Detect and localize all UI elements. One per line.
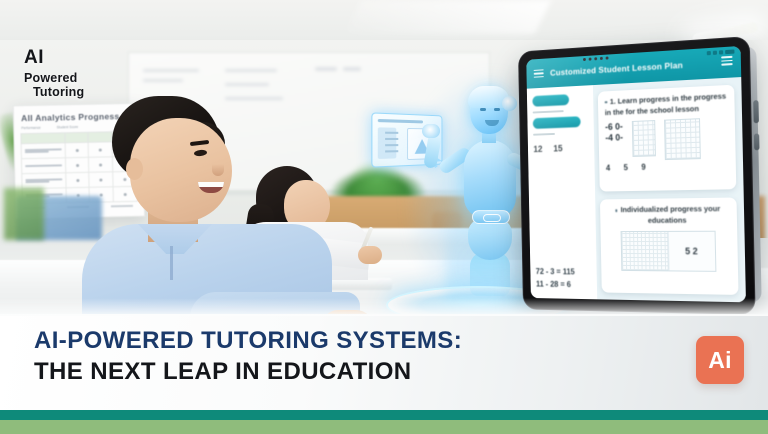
lesson-card-1-digits: 4 5 9 xyxy=(606,160,729,172)
bullet-icon xyxy=(605,101,607,104)
poster-green-shape xyxy=(4,188,44,240)
brand-line-1: AI xyxy=(24,48,84,67)
hamburger-icon[interactable] xyxy=(534,69,544,78)
digit-2: 5 xyxy=(623,163,627,172)
sidebar-label-line-small xyxy=(533,133,555,136)
sidebar-number-1: 12 xyxy=(533,144,542,154)
ai-logo-badge: Ai xyxy=(696,336,744,384)
tablet-device[interactable]: Customized Student Lesson Plan 12 15 xyxy=(518,36,756,315)
poster-canvas: AII Analytics Progness Performance Stude… xyxy=(0,0,768,434)
equation-1: 72 - 3 = 115 xyxy=(536,266,591,279)
mini-grid-small xyxy=(631,120,655,157)
sidebar-equations: 72 - 3 = 115 11 - 28 = 6 xyxy=(536,266,592,291)
app-title: Customized Student Lesson Plan xyxy=(550,60,683,78)
lesson-content: 1. Learn progress in the progress in the… xyxy=(593,77,746,302)
battery-icon xyxy=(725,49,734,54)
headline-line-2: THE NEXT LEAP IN EDUCATION xyxy=(34,359,462,386)
banner-top-fade xyxy=(0,298,768,316)
footer-bar-teal xyxy=(0,410,768,420)
lesson-card-1-math: -6 0- -4 0- xyxy=(605,117,728,162)
sidebar-label-line xyxy=(533,110,564,113)
math-line-2: -4 0- xyxy=(605,133,623,145)
lesson-card-2[interactable]: Individualized progress your educations … xyxy=(600,198,739,295)
ai-logo-text: Ai xyxy=(708,349,732,372)
poster-sub-left: Performance xyxy=(21,126,41,130)
app-body: 12 15 72 - 3 = 115 11 - 28 = 6 1. Learn … xyxy=(527,77,746,302)
brand-lockup: AI Powered Tutoring xyxy=(24,48,84,100)
headline-line-1: AI-POWERED TUTORING SYSTEMS: xyxy=(34,328,462,355)
brand-line-2: Powered xyxy=(24,71,84,85)
page-title: AI-POWERED TUTORING SYSTEMS: THE NEXT LE… xyxy=(34,328,462,386)
sidebar-number-2: 15 xyxy=(553,143,562,153)
mini-grid-large xyxy=(664,118,701,160)
math-column: -6 0- -4 0- xyxy=(605,121,623,144)
volume-up-button[interactable] xyxy=(753,100,759,123)
lesson-card-1-heading: 1. Learn progress in the progress in the… xyxy=(605,91,728,118)
digit-1: 4 xyxy=(606,164,610,173)
tablet-screen[interactable]: Customized Student Lesson Plan 12 15 xyxy=(526,46,746,302)
equation-2: 11 - 28 = 6 xyxy=(536,278,591,291)
download-pill-button[interactable] xyxy=(532,94,569,106)
assessment-pill-button[interactable] xyxy=(533,116,581,129)
brand-line-3: Tutoring xyxy=(33,85,84,99)
sidebar-numbers: 12 15 xyxy=(533,142,588,154)
ceiling-highlight xyxy=(345,0,552,34)
progress-grid-value: 5 2 xyxy=(667,232,716,271)
lesson-card-2-heading: Individualized progress your educations xyxy=(607,204,730,226)
hologram-belt xyxy=(472,210,510,224)
math-line-1: -6 0- xyxy=(605,121,623,133)
hologram-open-hand xyxy=(422,124,440,138)
bullet-icon xyxy=(615,209,617,212)
progress-grid: 5 2 xyxy=(621,231,717,272)
lesson-sidebar[interactable]: 12 15 72 - 3 = 115 11 - 28 = 6 xyxy=(527,85,597,299)
footer-bar-green xyxy=(0,420,768,434)
lesson-card-1[interactable]: 1. Learn progress in the progress in the… xyxy=(598,85,737,192)
poster-sub-right: Student Score xyxy=(57,125,79,129)
digit-3: 9 xyxy=(641,163,646,172)
volume-down-button[interactable] xyxy=(754,133,760,150)
title-banner: AI-POWERED TUTORING SYSTEMS: THE NEXT LE… xyxy=(0,314,768,410)
hamburger-icon-right[interactable] xyxy=(721,56,733,66)
